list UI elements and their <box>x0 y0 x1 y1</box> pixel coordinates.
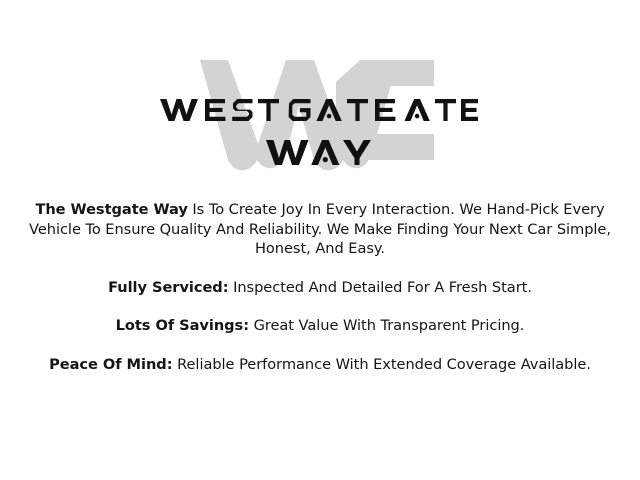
paragraph-fully-serviced: Fully Serviced: Inspected And Detailed F… <box>14 278 626 298</box>
paragraph-text: Inspected And Detailed For A Fresh Start… <box>229 279 532 296</box>
paragraph-lots-of-savings: Lots Of Savings: Great Value With Transp… <box>14 316 626 336</box>
paragraph-lead: Fully Serviced: <box>108 279 228 296</box>
paragraph-text: Reliable Performance With Extended Cover… <box>172 356 590 373</box>
paragraph-lead: Peace Of Mind: <box>49 356 172 373</box>
dealer-info-panel: The Westgate Way Is To Create Joy In Eve… <box>0 0 640 480</box>
paragraph-lead: The Westgate Way <box>35 201 187 218</box>
brand-logo-block <box>0 48 640 188</box>
dealer-value-proposition: The Westgate Way Is To Create Joy In Eve… <box>14 200 626 374</box>
paragraph-westgate-way: The Westgate Way Is To Create Joy In Eve… <box>14 200 626 259</box>
brand-logo-graphic <box>0 48 640 188</box>
paragraph-peace-of-mind: Peace Of Mind: Reliable Performance With… <box>14 355 626 375</box>
paragraph-lead: Lots Of Savings: <box>116 317 249 334</box>
paragraph-text: Great Value With Transparent Pricing. <box>249 317 524 334</box>
logo-wordmark-westgate-tail <box>404 99 478 121</box>
